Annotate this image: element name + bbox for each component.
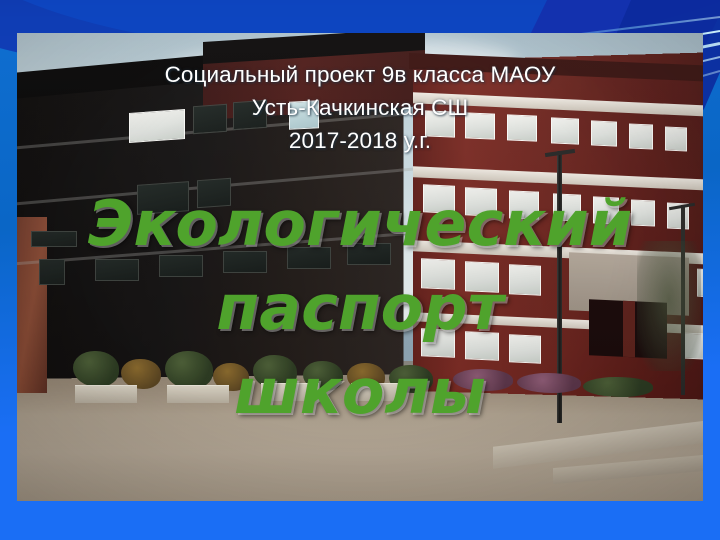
subtitle-line-1: Социальный проект 9в класса МАОУ bbox=[17, 58, 703, 91]
slide-title-block: Экологический паспорт школы bbox=[17, 182, 703, 434]
subtitle-line-3: 2017-2018 у.г. bbox=[17, 124, 703, 157]
title-line-2: паспорт bbox=[17, 266, 703, 350]
slide-subtitle-block: Социальный проект 9в класса МАОУ Усть-Ка… bbox=[17, 58, 703, 157]
subtitle-line-2: Усть-Качкинская СШ bbox=[17, 91, 703, 124]
title-line-1: Экологический bbox=[17, 182, 703, 266]
title-line-3: школы bbox=[17, 350, 703, 434]
presentation-slide: Социальный проект 9в класса МАОУ Усть-Ка… bbox=[0, 0, 720, 540]
